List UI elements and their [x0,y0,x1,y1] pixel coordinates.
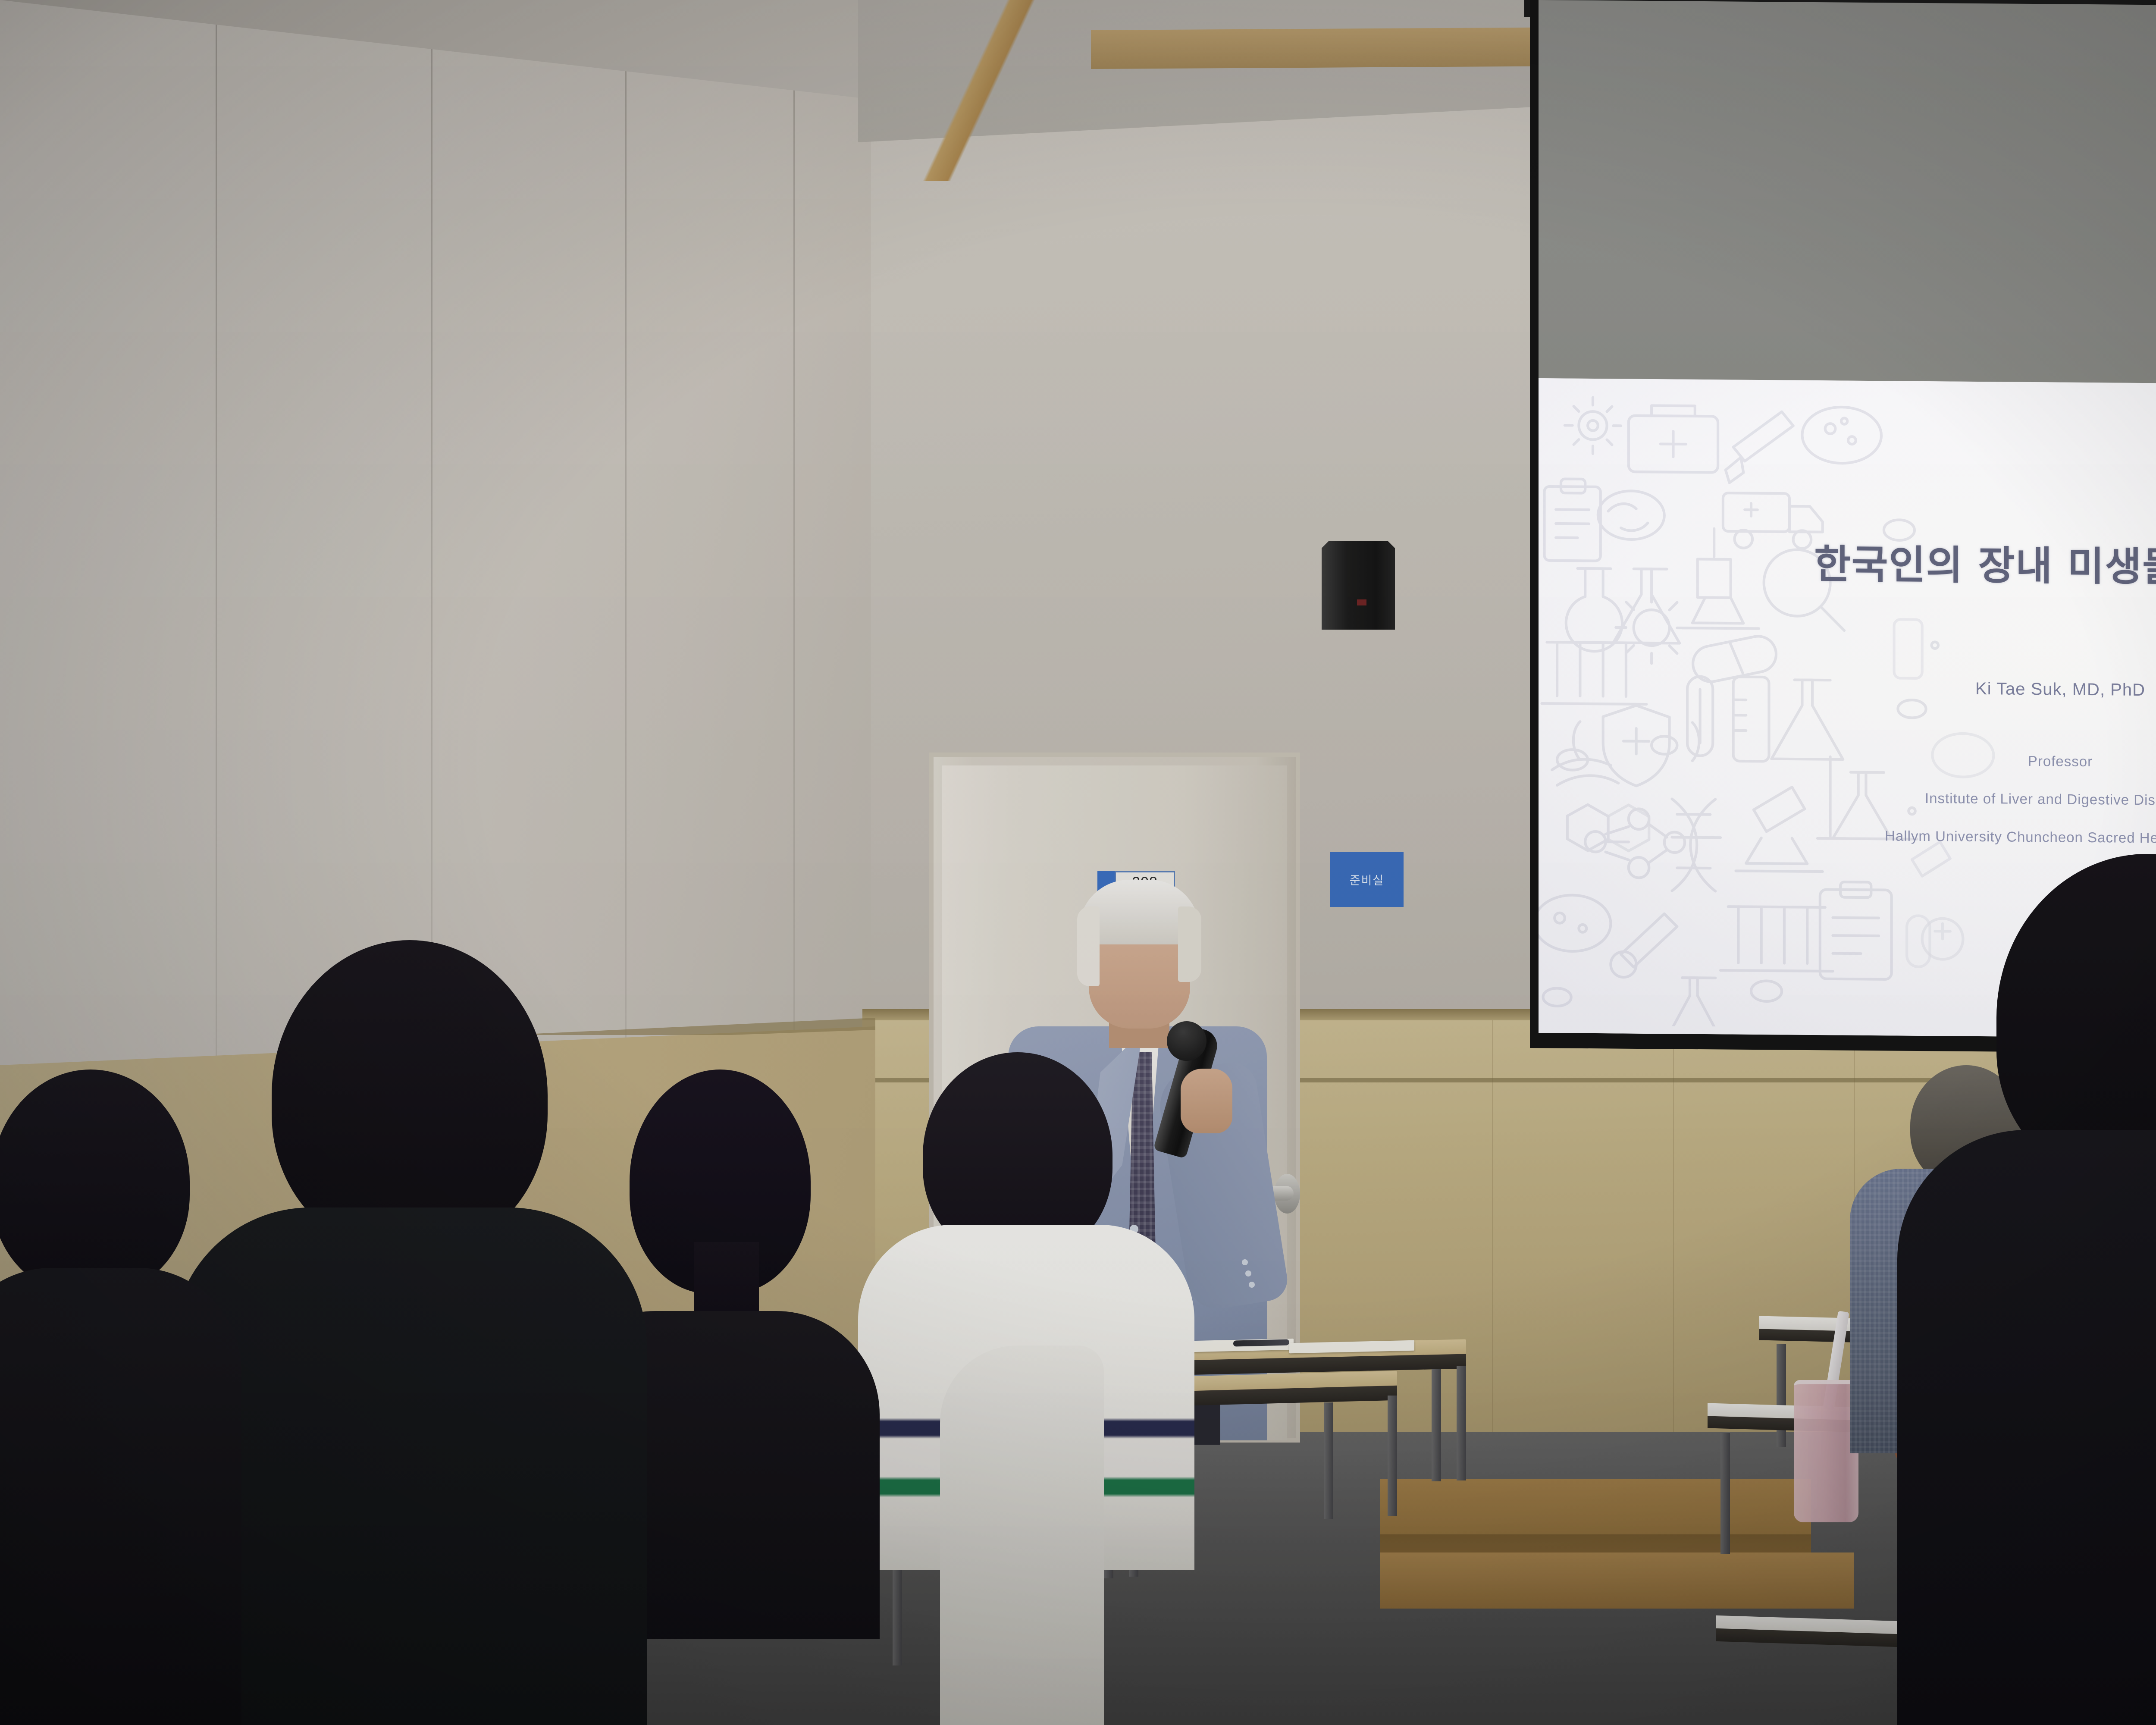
drink-cup [1794,1380,1858,1522]
presenter-hair-left [1077,906,1100,986]
prep-room-label: 준비실 [1350,871,1385,888]
audience-member-dark-polo [172,940,647,1725]
left-wall-upper [0,0,871,1065]
attendee-head [0,1069,190,1294]
attendee-torso [1897,1130,2156,1725]
cuff-button [1245,1270,1251,1276]
attendee-head [272,940,548,1251]
slide-title: 한국인의 장내 미생물의 특징 [1539,530,2156,596]
cuff-button [1249,1282,1255,1288]
audience-member-left-edge [0,1069,241,1725]
prep-room-sign: 준비실 [1330,852,1404,907]
wall-speaker-icon [1322,541,1395,630]
attendee-sleeve [940,1345,1104,1725]
attendee-torso [172,1207,647,1725]
stage-step [1380,1552,1854,1609]
audience-member-white-sleeve [940,1345,1104,1725]
cuff-button [1242,1259,1248,1265]
speaker-led-icon [1357,599,1366,605]
audience-member-right-foreground [1897,854,2156,1725]
pen [1233,1339,1289,1347]
ceiling-trim-diagonal [845,0,1112,181]
presenter-hair-right [1178,906,1201,982]
lecture-hall-photo: 208 준비실 [0,0,2156,1725]
attendee-torso [0,1268,241,1725]
